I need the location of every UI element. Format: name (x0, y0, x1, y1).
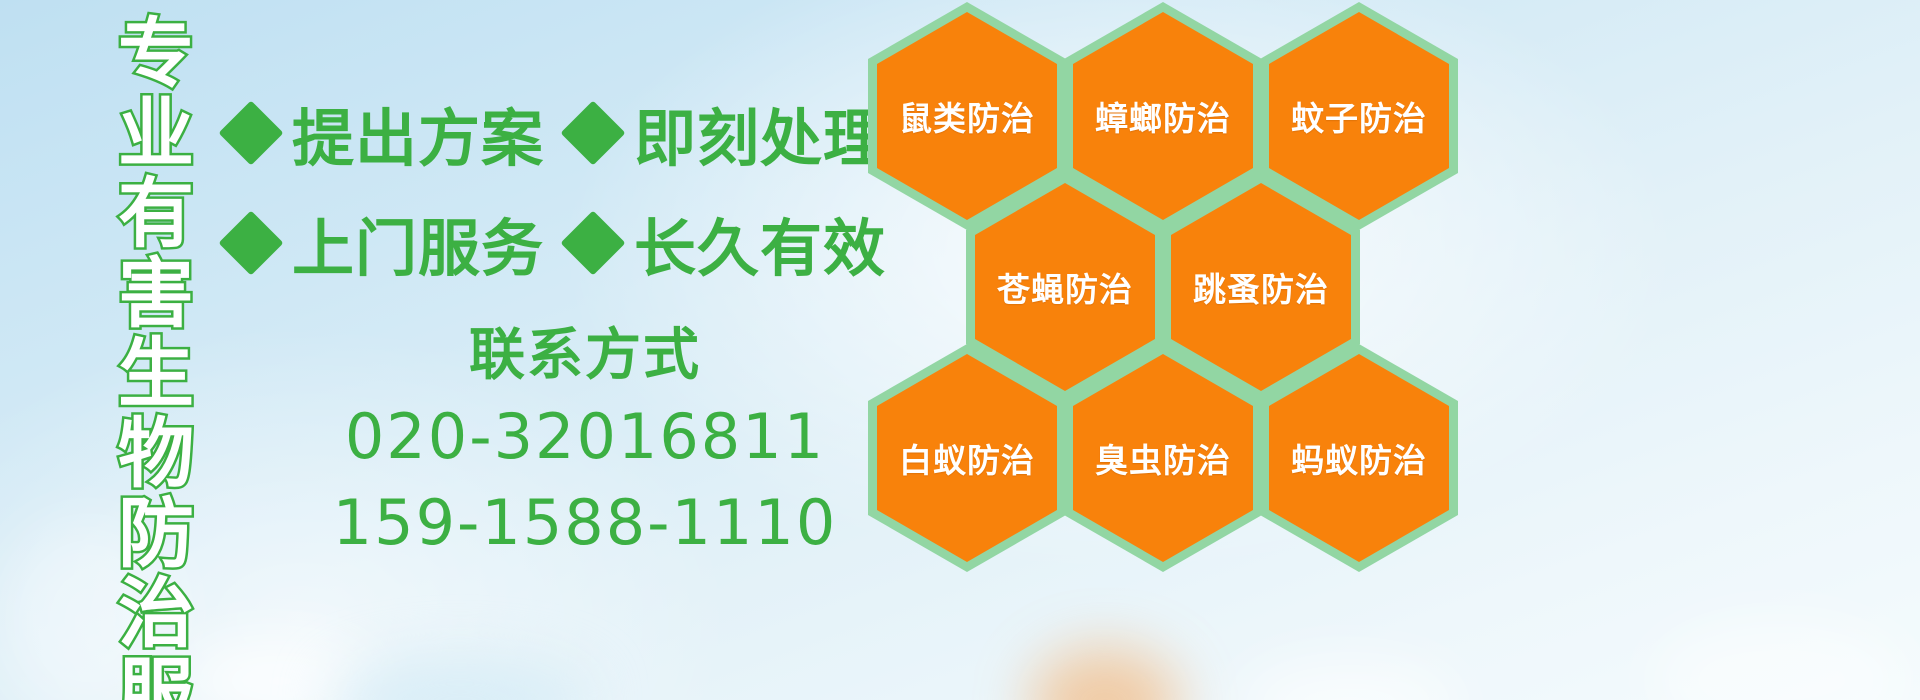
feature-item-long-lasting: 长久有效 (570, 198, 886, 288)
vertical-headline-char: 物 (118, 414, 194, 494)
service-label: 白蚁防治 (899, 434, 1035, 482)
service-hexagon-bedbug[interactable]: 臭虫防治 (1064, 344, 1262, 572)
feature-label: 上门服务 (292, 198, 544, 288)
contact-block: 联系方式 020-32016811 159-1588-1110 (300, 318, 870, 566)
feature-label: 长久有效 (634, 198, 886, 288)
contact-phone-landline[interactable]: 020-32016811 (300, 394, 870, 480)
vertical-headline-char: 专 (118, 14, 194, 94)
service-hexagon-termite[interactable]: 白蚁防治 (868, 344, 1066, 572)
background-haze-blob (1030, 648, 1180, 700)
diamond-bullet-icon (560, 210, 625, 275)
vertical-headline: 专 业 有 害 生 物 防 治 服 务 (108, 14, 204, 664)
service-hexagon-grid: 鼠类防治 蟑螂防治 蚊子防治 苍蝇防治 跳蚤防治 白蚁防治 (862, 0, 1462, 554)
feature-item-immediate-action: 即刻处理 (570, 88, 886, 178)
service-label: 蟑螂防治 (1095, 92, 1231, 140)
vertical-headline-char: 业 (118, 94, 194, 174)
feature-label: 即刻处理 (634, 88, 886, 178)
service-label: 臭虫防治 (1095, 434, 1231, 482)
contact-phone-mobile[interactable]: 159-1588-1110 (300, 480, 870, 566)
vertical-headline-char: 治 (118, 574, 194, 654)
diamond-bullet-icon (218, 100, 283, 165)
vertical-headline-char: 有 (118, 174, 194, 254)
service-label: 苍蝇防治 (997, 263, 1133, 311)
service-label: 鼠类防治 (899, 92, 1035, 140)
diamond-bullet-icon (218, 210, 283, 275)
feature-list: 提出方案 即刻处理 上门服务 长久有效 (228, 78, 868, 298)
service-label: 蚊子防治 (1291, 92, 1427, 140)
background-haze-blob (1650, 620, 1910, 700)
vertical-headline-char: 服 (118, 654, 194, 700)
pest-control-banner: 专 业 有 害 生 物 防 治 服 务 提出方案 即刻处理 上门服务 (0, 0, 1920, 700)
feature-row: 上门服务 长久有效 (228, 188, 868, 298)
feature-label: 提出方案 (292, 88, 544, 178)
background-haze-blob (180, 636, 380, 700)
service-label: 跳蚤防治 (1193, 263, 1329, 311)
vertical-headline-char: 防 (118, 494, 194, 574)
feature-row: 提出方案 即刻处理 (228, 78, 868, 188)
background-haze-blob (1240, 660, 1460, 700)
service-hexagon-ant[interactable]: 蚂蚁防治 (1260, 344, 1458, 572)
vertical-headline-char: 害 (118, 254, 194, 334)
diamond-bullet-icon (560, 100, 625, 165)
background-haze-blob (330, 660, 590, 700)
vertical-headline-char: 生 (118, 334, 194, 414)
service-label: 蚂蚁防治 (1291, 434, 1427, 482)
feature-item-onsite-service: 上门服务 (228, 198, 544, 288)
feature-item-propose-plan: 提出方案 (228, 88, 544, 178)
contact-title: 联系方式 (300, 318, 870, 394)
